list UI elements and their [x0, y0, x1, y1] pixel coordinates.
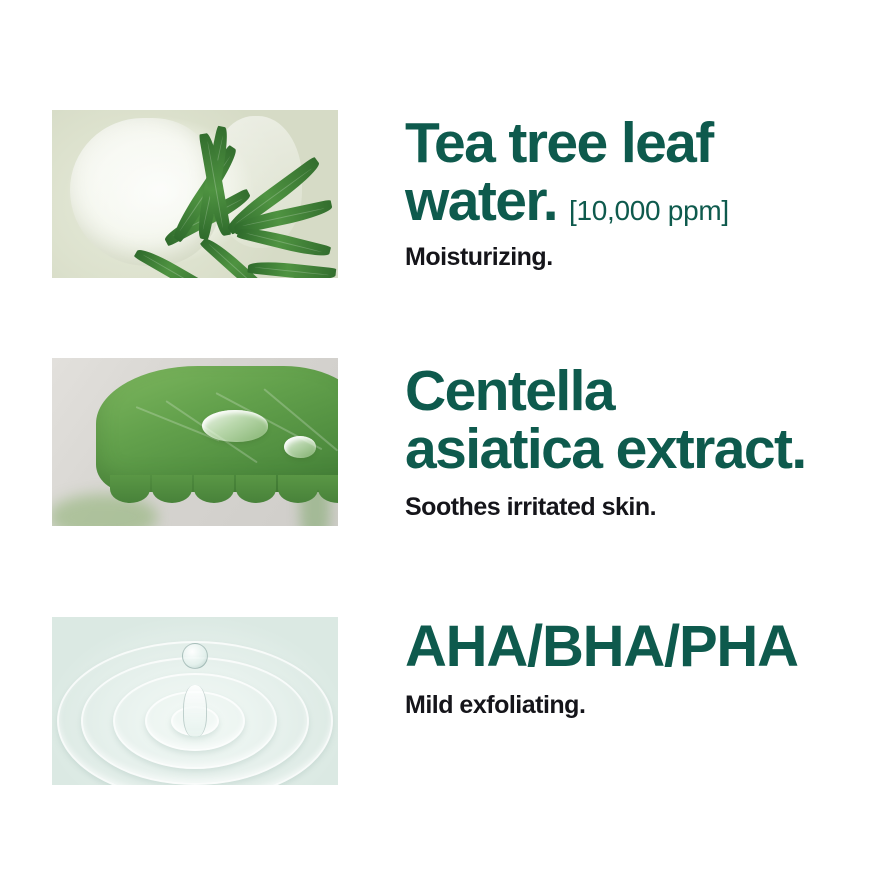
- water-droplet-photo: [52, 617, 338, 785]
- tea-tree-leaf-photo: [52, 110, 338, 278]
- ingredient-subtitle: Moisturizing.: [405, 242, 875, 272]
- leaf-shape: [247, 259, 336, 278]
- concentration-label: [10,000 ppm]: [569, 195, 729, 226]
- leaf-scallop-shape: [110, 475, 150, 503]
- ingredient-text-aha-bha-pha: AHA/BHA/PHA Mild exfoliating.: [405, 617, 875, 720]
- ingredient-subtitle: Soothes irritated skin.: [405, 492, 875, 522]
- heading-line-2: asiatica extract.: [405, 417, 806, 481]
- leaf-scallop-shape: [152, 475, 192, 503]
- water-column-shape: [183, 685, 207, 737]
- ingredient-heading: Centellaasiatica extract.: [405, 362, 875, 478]
- ingredient-heading: AHA/BHA/PHA: [405, 617, 875, 676]
- centella-leaf-photo: [52, 358, 338, 526]
- leaf-scallop-shape: [278, 475, 318, 503]
- ingredient-text-centella: Centellaasiatica extract. Soothes irrita…: [405, 362, 875, 522]
- heading-line-1: Centella: [405, 359, 614, 423]
- ingredient-text-tea-tree: Tea tree leafwater.[10,000 ppm] Moisturi…: [405, 114, 875, 272]
- leaf-scallop-shape: [194, 475, 234, 503]
- heading-line-1: AHA/BHA/PHA: [405, 614, 798, 679]
- heading-line-1: Tea tree leaf: [405, 111, 713, 175]
- ingredient-heading: Tea tree leafwater.[10,000 ppm]: [405, 114, 875, 230]
- water-droplet-shape: [284, 436, 316, 458]
- leaf-scallop-shape: [236, 475, 276, 503]
- ingredient-subtitle: Mild exfoliating.: [405, 690, 875, 720]
- heading-line-2: water.: [405, 169, 557, 233]
- ingredient-list: Tea tree leafwater.[10,000 ppm] Moisturi…: [0, 0, 896, 896]
- suspended-droplet-shape: [182, 643, 208, 669]
- water-droplet-shape: [202, 410, 268, 442]
